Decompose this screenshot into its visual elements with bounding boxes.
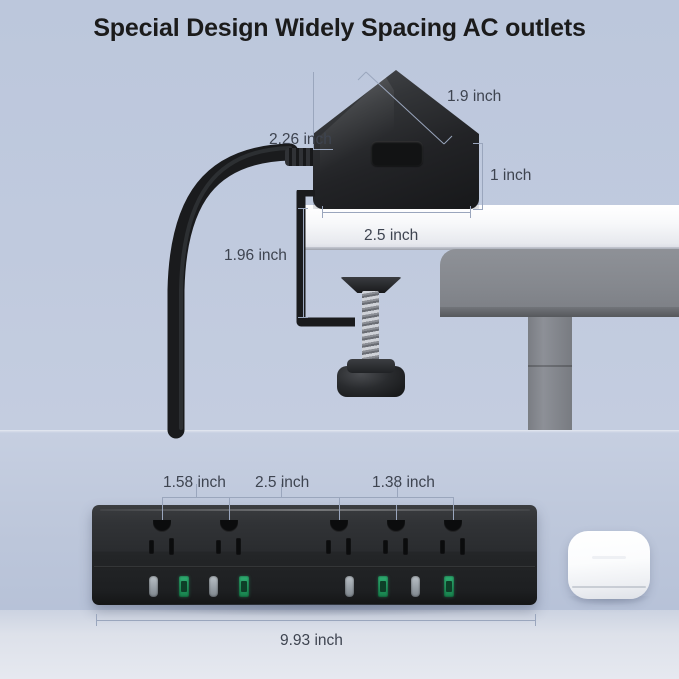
spacing-bracket-1	[162, 497, 230, 498]
spacing-tick-1b	[229, 497, 230, 505]
dimension-line-1-9	[348, 60, 528, 170]
clamp-bracket	[295, 190, 425, 350]
total-length-label: 9.93 inch	[280, 632, 343, 650]
dimension-tick-1-bottom	[473, 209, 483, 210]
total-length-tick-right	[535, 614, 536, 626]
ac-outlet[interactable]	[317, 520, 361, 562]
power-strip-highlight	[100, 509, 530, 511]
ground-pin-slot-icon	[387, 520, 405, 532]
spacing-label-1-58: 1.58 inch	[163, 474, 226, 492]
dimension-label-2-5-desk: 2.5 inch	[364, 227, 418, 245]
spacing-bracket-2	[230, 497, 340, 498]
outlet-leader-3	[339, 505, 340, 520]
clamp-knob[interactable]	[337, 366, 405, 397]
neutral-slot-icon	[440, 540, 445, 554]
spacing-tick-1a	[162, 497, 163, 505]
infographic-canvas: Special Design Widely Spacing AC outlets…	[0, 0, 679, 679]
earbuds-case-detail-line	[592, 556, 626, 559]
neutral-slot-icon	[326, 540, 331, 554]
dimension-label-1-9: 1.9 inch	[447, 88, 501, 106]
power-strip-seam	[94, 566, 535, 568]
usb-c-port[interactable]	[209, 576, 218, 597]
dimension-tick-2-5-right	[470, 206, 471, 218]
neutral-slot-icon	[216, 540, 221, 554]
neutral-slot-icon	[149, 540, 154, 554]
usb-c-port[interactable]	[411, 576, 420, 597]
dimension-tick-1-96-top	[298, 208, 308, 209]
hot-slot-icon	[236, 538, 241, 555]
dimension-line-2-26	[313, 149, 333, 150]
ground-pin-slot-icon	[153, 520, 171, 532]
dimension-tick-1-96-bottom	[298, 317, 308, 318]
ac-outlet[interactable]	[431, 520, 475, 562]
desk-leg	[528, 317, 572, 430]
earbuds-charging-case	[568, 531, 650, 599]
total-length-line	[96, 620, 536, 621]
outlet-leader-4	[396, 505, 397, 520]
desk-leg-seam	[528, 365, 572, 367]
dimension-label-1-inch: 1 inch	[490, 167, 531, 185]
hot-slot-icon	[460, 538, 465, 555]
spacing-label-2-5: 2.5 inch	[255, 474, 309, 492]
desk-underside	[440, 249, 679, 317]
spacing-tick-2b	[339, 497, 340, 505]
ground-pin-slot-icon	[444, 520, 462, 532]
dimension-line-2-5	[322, 212, 470, 213]
spacing-tick-3b	[453, 497, 454, 505]
spacing-label-1-38: 1.38 inch	[372, 474, 435, 492]
usb-c-port[interactable]	[345, 576, 354, 597]
dimension-label-1-96: 1.96 inch	[224, 247, 287, 265]
outlet-leader-1	[162, 505, 163, 520]
ac-outlet[interactable]	[140, 520, 184, 562]
hot-slot-icon	[169, 538, 174, 555]
dimension-tick-1-top	[473, 143, 483, 144]
ground-pin-slot-icon	[220, 520, 238, 532]
usb-a-port[interactable]	[378, 576, 388, 597]
dimension-line-1-inch	[482, 143, 483, 210]
spacing-bracket-3	[340, 497, 454, 498]
usb-a-port[interactable]	[179, 576, 189, 597]
usb-a-port[interactable]	[444, 576, 454, 597]
usb-a-port[interactable]	[239, 576, 249, 597]
dimension-line-1-96	[303, 208, 304, 318]
total-length-tick-left	[96, 614, 97, 626]
usb-c-port[interactable]	[149, 576, 158, 597]
power-strip-shadow	[96, 604, 536, 616]
earbuds-case-lid-seam	[572, 586, 646, 588]
dimension-label-2-26: 2.26 inch	[269, 131, 332, 149]
ac-outlet[interactable]	[207, 520, 251, 562]
ac-outlet[interactable]	[374, 520, 418, 562]
hot-slot-icon	[346, 538, 351, 555]
hot-slot-icon	[403, 538, 408, 555]
neutral-slot-icon	[383, 540, 388, 554]
page-title: Special Design Widely Spacing AC outlets	[0, 14, 679, 43]
outlet-leader-2	[229, 505, 230, 520]
clamp-screw	[362, 291, 379, 369]
ground-pin-slot-icon	[330, 520, 348, 532]
outlet-leader-5	[453, 505, 454, 520]
dimension-tick-2-5-left	[322, 206, 323, 218]
